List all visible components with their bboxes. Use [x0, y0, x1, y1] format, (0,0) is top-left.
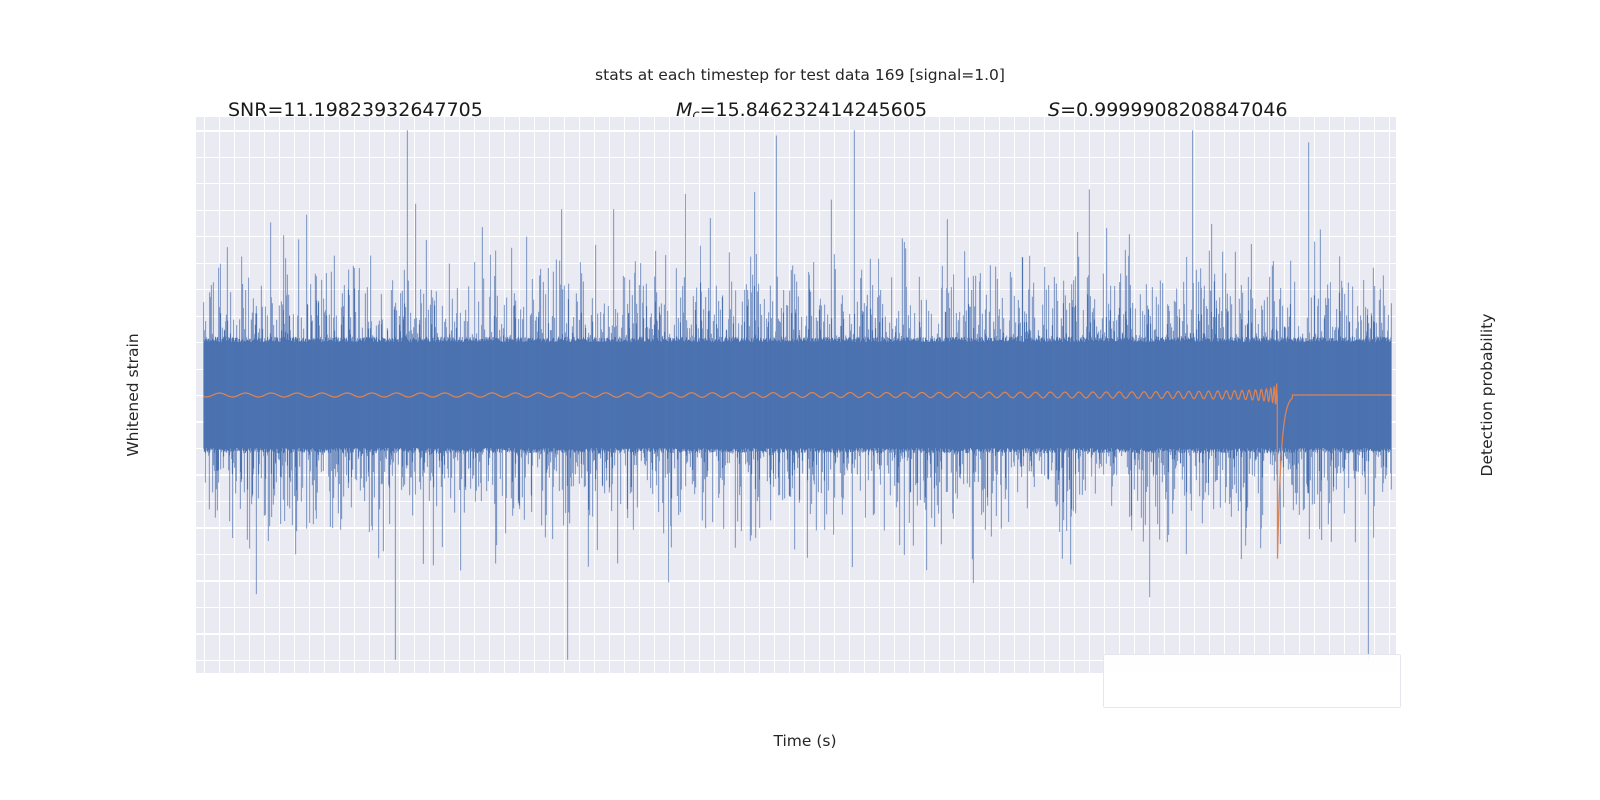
figure-canvas: stats at each timestep for test data 169…	[0, 0, 1600, 800]
y-axis-label-right: Detection probability	[1478, 314, 1496, 477]
plot-area	[196, 117, 1396, 673]
chart-title: stats at each timestep for test data 169…	[595, 66, 1005, 84]
chart-legend	[1103, 654, 1401, 708]
data-series-layer	[196, 117, 1396, 673]
x-axis-label: Time (s)	[773, 732, 836, 750]
y-axis-label-left: Whitened strain	[124, 333, 142, 456]
